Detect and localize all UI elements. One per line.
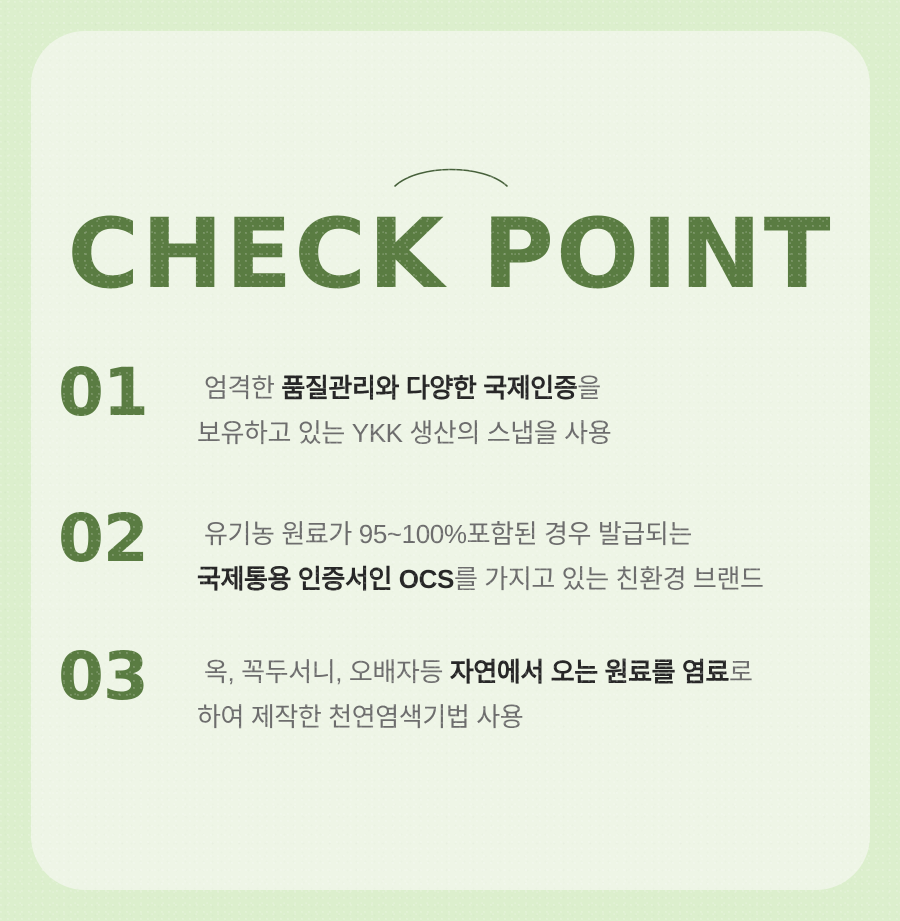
- text-run: 로: [729, 657, 753, 687]
- list-item: 01 엄격한 품질관리와 다양한 국제인증을 보유하고 있는 YKK 생산의 스…: [0, 362, 900, 462]
- item-number: 01: [0, 362, 150, 425]
- list-item: 03 옥, 꼭두서니, 오배자등 자연에서 오는 원료를 염료로 하여 제작한 …: [0, 646, 900, 746]
- text-run: 을: [577, 373, 601, 403]
- item-number: 02: [0, 508, 150, 571]
- text-run-emphasis: 자연에서 오는 원료를 염료: [450, 657, 729, 687]
- page-title: CHECK POINT: [0, 206, 900, 302]
- item-line: 보유하고 있는 YKK 생산의 스냅을 사용: [197, 411, 900, 456]
- text-run: 옥, 꼭두서니, 오배자등: [204, 657, 450, 687]
- item-body: 유기농 원료가 95~100%포함된 경우 발급되는 국제통용 인증서인 OCS…: [204, 508, 900, 601]
- text-run: 보유하고 있는 YKK 생산의 스냅을 사용: [197, 418, 611, 448]
- checkpoint-list: 01 엄격한 품질관리와 다양한 국제인증을 보유하고 있는 YKK 생산의 스…: [0, 362, 900, 772]
- promo-card-page: CHECK POINT 01 엄격한 품질관리와 다양한 국제인증을 보유하고 …: [0, 0, 900, 921]
- item-line: 하여 제작한 천연염색기법 사용: [197, 695, 900, 740]
- item-number: 03: [0, 646, 150, 709]
- arc-flourish-icon: [393, 160, 509, 192]
- text-run: 유기농 원료가 95~100%포함된 경우 발급되는: [204, 519, 692, 549]
- text-run-emphasis: 국제통용 인증서인 OCS: [197, 564, 454, 594]
- item-line: 유기농 원료가 95~100%포함된 경우 발급되는: [204, 512, 900, 557]
- item-line: 국제통용 인증서인 OCS를 가지고 있는 친환경 브랜드: [197, 557, 900, 602]
- item-body: 엄격한 품질관리와 다양한 국제인증을 보유하고 있는 YKK 생산의 스냅을 …: [204, 362, 900, 455]
- list-item: 02 유기농 원료가 95~100%포함된 경우 발급되는 국제통용 인증서인 …: [0, 508, 900, 608]
- item-body: 옥, 꼭두서니, 오배자등 자연에서 오는 원료를 염료로 하여 제작한 천연염…: [204, 646, 900, 739]
- text-run: 하여 제작한 천연염색기법 사용: [197, 702, 523, 732]
- text-run: 엄격한: [204, 373, 281, 403]
- text-run: 를 가지고 있는 친환경 브랜드: [454, 564, 764, 594]
- text-run-emphasis: 품질관리와 다양한 국제인증: [281, 373, 577, 403]
- item-line: 옥, 꼭두서니, 오배자등 자연에서 오는 원료를 염료로: [204, 650, 900, 695]
- item-line: 엄격한 품질관리와 다양한 국제인증을: [204, 366, 900, 411]
